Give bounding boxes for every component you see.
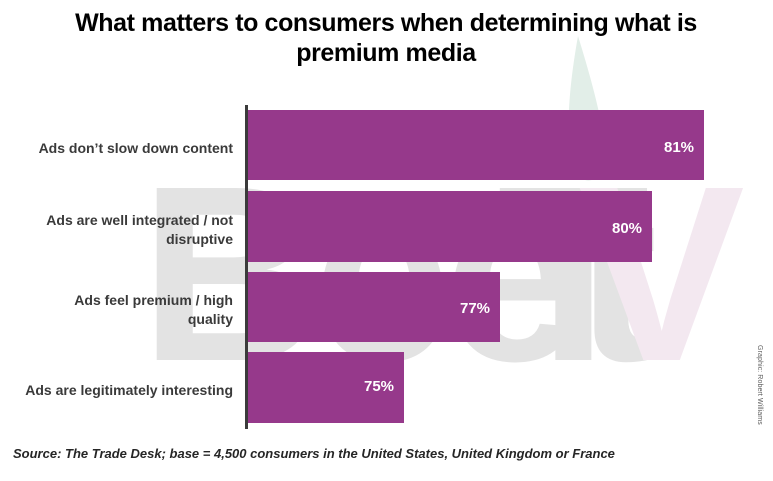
bar-rect[interactable] (248, 191, 652, 262)
bar-rect[interactable] (248, 110, 704, 180)
category-label: Ads feel premium / high quality (0, 291, 233, 329)
graphic-credit: Graphic: Robert Williams (756, 345, 763, 435)
bar-value-label: 77% (460, 300, 490, 317)
bar-value-label: 75% (364, 378, 394, 395)
chart-figure: Beet T V What matters to consumers when … (0, 0, 773, 481)
source-note: Source: The Trade Desk; base = 4,500 con… (13, 446, 615, 461)
category-label: Ads don’t slow down content (0, 139, 233, 158)
category-label: Ads are well integrated / not disruptive (0, 211, 233, 249)
bar-value-label: 81% (664, 139, 694, 156)
chart-title: What matters to consumers when determini… (36, 8, 736, 68)
bar-value-label: 80% (612, 220, 642, 237)
y-axis-line (245, 105, 248, 429)
category-label: Ads are legitimately interesting (0, 381, 233, 400)
plot-area: Ads don’t slow down content 81% Ads are … (0, 0, 773, 481)
